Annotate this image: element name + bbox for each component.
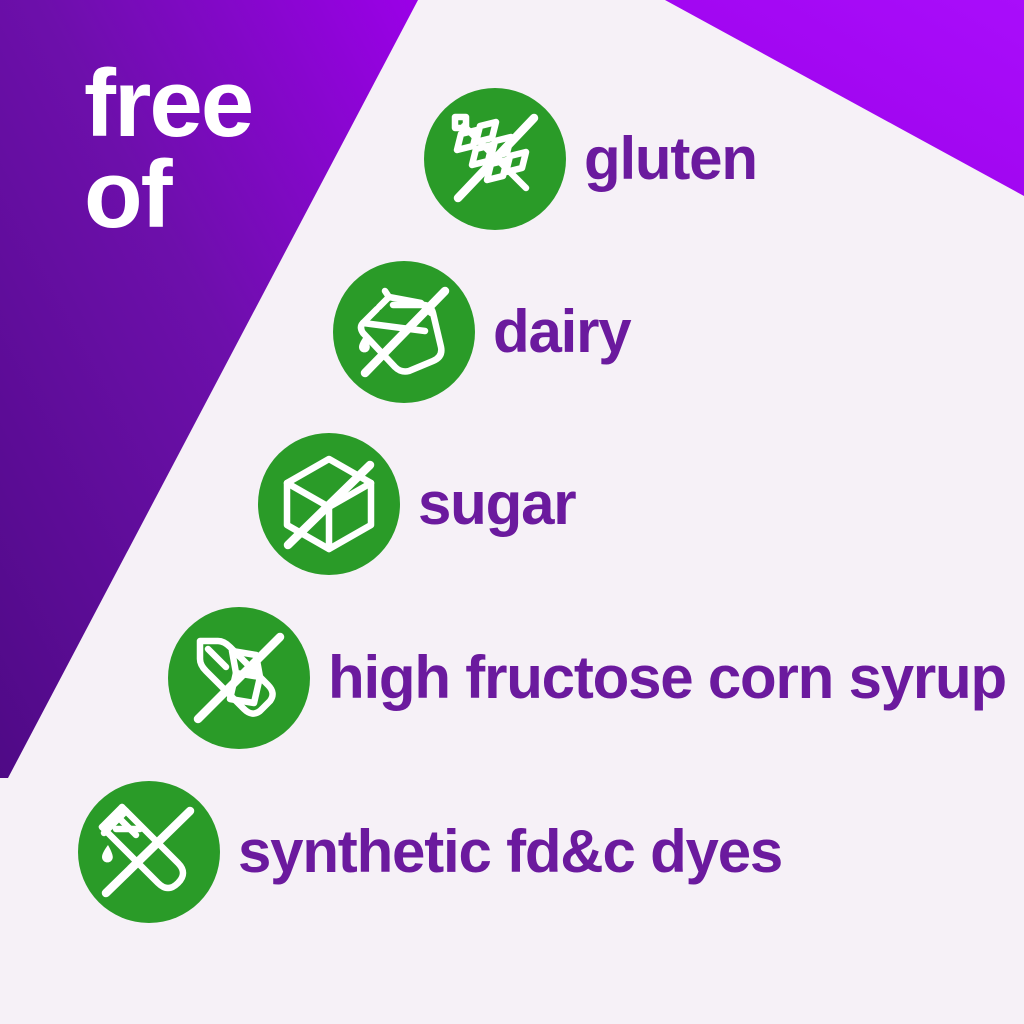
list-item-high-fructose-corn-syrup: high fructose corn syrup xyxy=(168,607,1006,749)
no-test-tube-icon xyxy=(78,781,220,923)
list-item-label: synthetic fd&c dyes xyxy=(238,822,782,882)
no-corn-icon xyxy=(168,607,310,749)
dye-drop xyxy=(102,845,113,862)
list-item-label: high fructose corn syrup xyxy=(328,648,1006,708)
list-item-gluten: gluten xyxy=(424,88,757,230)
list-item-label: dairy xyxy=(493,302,630,362)
no-milk-jug-icon xyxy=(333,261,475,403)
list-item-label: gluten xyxy=(584,129,757,189)
list-item-synthetic-fdc-dyes: synthetic fd&c dyes xyxy=(78,781,782,923)
page-title: free of xyxy=(84,58,384,240)
no-sugar-cube-icon xyxy=(258,433,400,575)
no-wheat-icon xyxy=(424,88,566,230)
list-item-label: sugar xyxy=(418,474,575,534)
free-of-graphic: free of xyxy=(0,0,1024,1024)
list-item-dairy: dairy xyxy=(333,261,630,403)
list-item-sugar: sugar xyxy=(258,433,575,575)
